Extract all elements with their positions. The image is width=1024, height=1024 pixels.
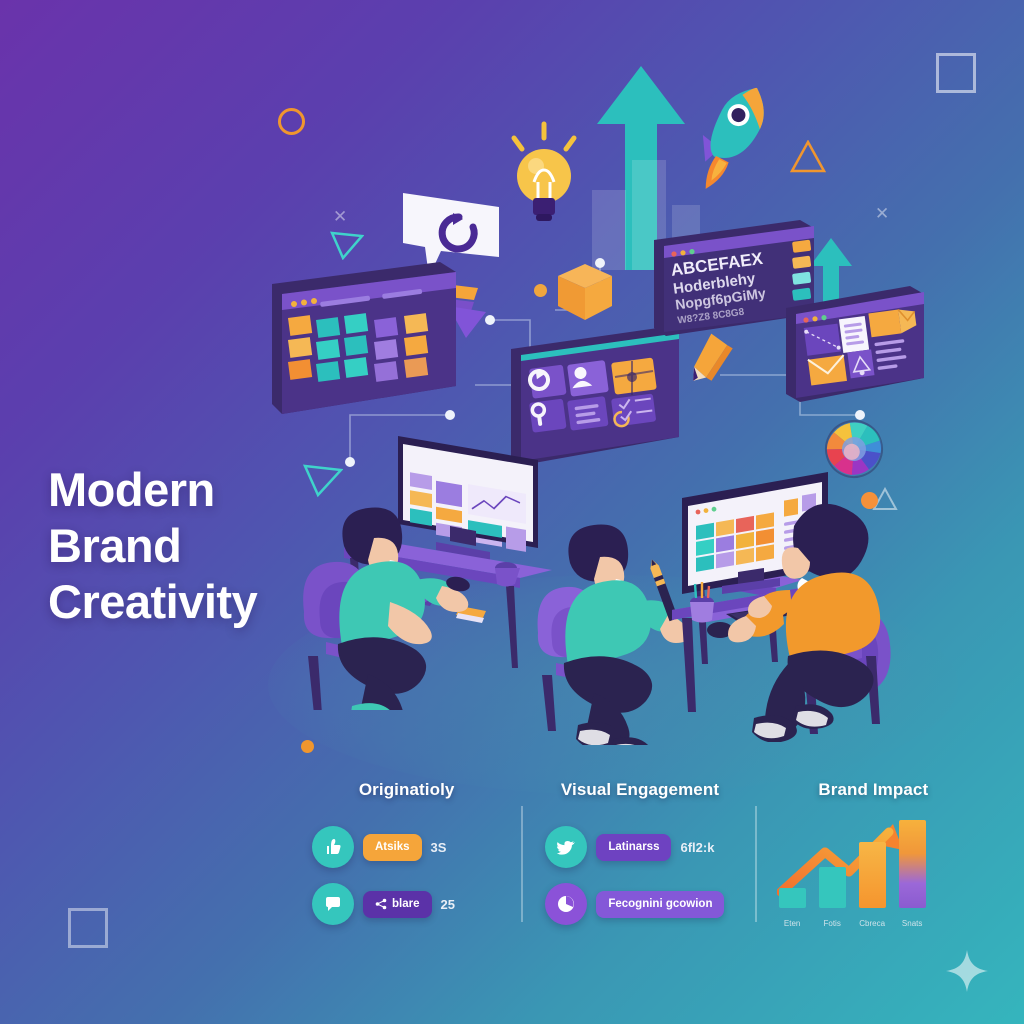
chart-bar — [859, 842, 886, 908]
chart-bar — [819, 867, 846, 908]
stat-pill[interactable]: Fecognini gcowion — [596, 891, 724, 918]
stat-row[interactable]: Atsiks 3S — [312, 826, 509, 868]
decor-x-right: ✕ — [875, 205, 889, 222]
chart-bars — [779, 820, 926, 908]
stat-value: 3S — [431, 840, 447, 855]
decor-sparkle-icon — [944, 948, 990, 999]
chart-x-label: Eten — [779, 919, 806, 928]
stat-pill-label: Fecognini gcowion — [608, 898, 712, 910]
stat-pill-label: blare — [392, 898, 420, 910]
stat-title-brand-impact: Brand Impact — [771, 780, 976, 800]
color-palette-panel[interactable] — [264, 258, 464, 438]
stat-row[interactable]: Latinarss 6fl2:k — [545, 826, 742, 868]
chart-x-label: Snats — [899, 919, 926, 928]
decor-dot-orange-mid — [534, 284, 547, 297]
stat-value: 25 — [441, 897, 455, 912]
stat-row[interactable]: blare 25 — [312, 883, 509, 925]
stat-col-originality: Originatioly Atsiks 3S — [290, 780, 523, 950]
decor-ring-orange — [278, 108, 305, 135]
chart-bar — [899, 820, 926, 908]
thumbs-up-icon[interactable] — [312, 826, 354, 868]
stat-title-visual-engagement: Visual Engagement — [537, 780, 742, 800]
decor-triangle-orange — [790, 140, 826, 179]
stat-pill-label: Latinarss — [608, 841, 659, 853]
stat-pill[interactable]: Latinarss — [596, 834, 671, 861]
stat-title-originality: Originatioly — [304, 780, 509, 800]
comment-icon[interactable] — [312, 883, 354, 925]
stat-pill-label: Atsiks — [375, 841, 410, 853]
chart-x-label: Cbreca — [859, 919, 886, 928]
package-box-icon — [556, 262, 614, 329]
branding-mockup-panel[interactable] — [782, 282, 942, 417]
chart-x-labels: EtenFotisCbrecaSnats — [779, 919, 926, 928]
decor-square-bottom-left — [68, 908, 108, 948]
stats-bar: Originatioly Atsiks 3S — [290, 780, 990, 950]
pie-chart-icon[interactable] — [545, 883, 587, 925]
stat-pill[interactable]: Atsiks — [363, 834, 422, 861]
designer-right — [672, 462, 932, 747]
decor-square-top-right — [936, 53, 976, 93]
stat-col-brand-impact: Brand Impact EtenFotisCbrecaSnats — [757, 780, 990, 950]
stat-pill[interactable]: blare — [363, 891, 432, 918]
stat-row[interactable]: Fecognini gcowion — [545, 883, 742, 925]
bird-icon[interactable] — [545, 826, 587, 868]
lightbulb-icon — [500, 118, 588, 233]
poster-canvas: ✕ ✕ Modern Brand Creativity — [0, 0, 1024, 1024]
stat-value: 6fl2:k — [680, 840, 714, 855]
stat-divider-right — [755, 806, 757, 922]
chart-bar — [779, 888, 806, 908]
designer-left — [290, 430, 560, 715]
stat-col-visual-engagement: Visual Engagement Latinarss 6fl2:k — [523, 780, 756, 950]
brand-impact-chart: EtenFotisCbrecaSnats — [771, 816, 976, 928]
decor-x-left: ✕ — [333, 208, 347, 225]
decor-dot-orange-left — [301, 740, 314, 753]
chart-x-label: Fotis — [819, 919, 846, 928]
share-icon — [375, 898, 387, 910]
stat-divider-left — [521, 806, 523, 922]
rocket-icon — [688, 88, 776, 185]
